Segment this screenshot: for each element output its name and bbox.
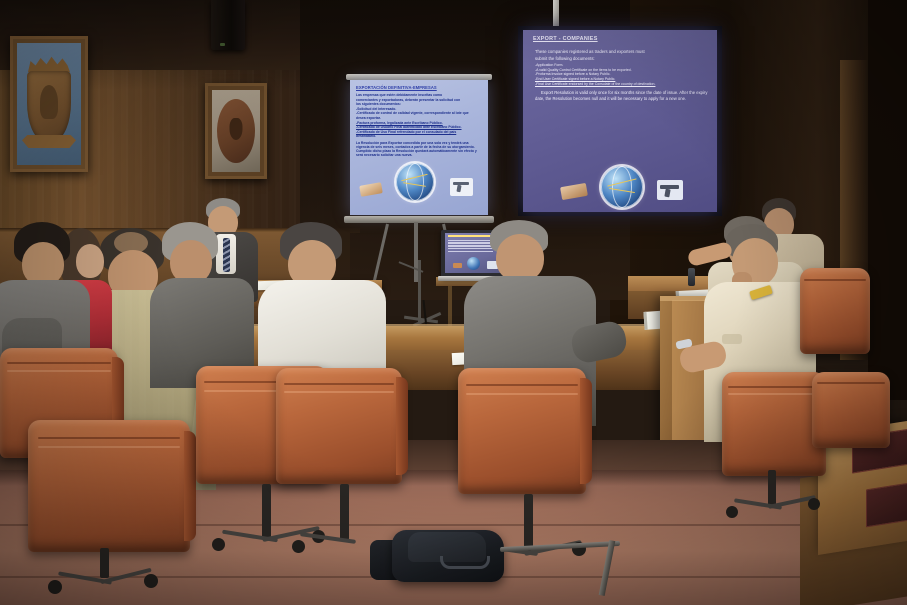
crest-figure-icon [40,85,58,119]
chair-front-left[interactable] [28,420,190,552]
pistol-icon [657,180,683,200]
chair-right-corner[interactable] [812,372,890,448]
conference-room-photo: EXPORT - COMPANIES These companies regis… [0,0,907,605]
chair-post-grey [524,494,533,552]
chair-post-front-left [100,548,109,578]
left-slide-body-5: desea exportar. [356,116,482,120]
necktie-icon [223,238,230,272]
chair-castor-i [808,498,820,510]
pistol-icon-left [450,178,473,196]
left-slide-body-6: -Factura proforma, legalizada ante Escri… [356,121,482,125]
chair-post-officer [768,470,776,506]
desk-pad-2 [866,480,907,527]
crown-icon [28,55,70,72]
left-slide-title: EXPORTACIÓN DEFINITIVA-EMPRESAS [356,85,482,91]
chair-castor-e [292,540,305,553]
chair-castor-c [212,538,225,551]
left-slide-artwork [358,155,480,201]
left-slide-body-4: -Certificado de control de calidad vigen… [356,111,482,115]
right-slide-title: EXPORT - COMPANIES [533,35,711,43]
left-slide-body-2: los siguientes documentos: [356,102,482,106]
oval-relief-plaque [205,83,267,179]
right-slide-lead-0: These companies registered as traders an… [535,49,711,55]
laptop-table-leg-left [448,286,452,328]
chair-grey-suit-center[interactable] [458,368,586,494]
speaker-led-icon [220,43,225,46]
bottle-icon [688,268,695,286]
right-slide-artwork [557,154,687,210]
globe-icon [601,166,643,208]
left-slide-body-9: destinatario. [356,134,482,138]
chair-castor-b [144,574,158,588]
left-slide-body-1: comerciantes y exportadoras, deberán pre… [356,98,482,102]
chair-right-back[interactable] [800,268,870,354]
right-slide-bullet-4: -Final Use Certificate endorsed by the C… [535,82,711,87]
oval-relief-figure-icon [230,118,243,140]
chair-castor-a [48,580,62,594]
laptop-bag-handle [440,556,490,569]
chair-officer-foreground[interactable] [722,372,826,476]
right-projection-screen: EXPORT - COMPANIES These companies regis… [523,30,717,212]
screen-bottom-bar [344,216,494,223]
chair-center-white-shirt[interactable] [276,368,402,484]
right-slide-lead-1: submit the following documents: [535,56,711,62]
left-slide-body-0: Las empresas que estén debidamente inscr… [356,93,482,97]
ammunition-icon [560,183,588,200]
left-slide-body-8: -Certificado de Uso Final refrendado por… [356,130,482,134]
chair-castor-h [726,506,738,518]
ribbon-icon [22,135,76,148]
laptop-ammo-icon [453,263,462,268]
laptop-slide-title-bar [448,235,493,237]
left-projection-screen: EXPORTACIÓN DEFINITIVA-EMPRESAS Las empr… [350,80,488,215]
globe-icon-left [396,163,434,201]
ammunition-icon-left [359,182,383,197]
chair-post-khaki [262,484,271,538]
laptop-globe-icon [467,257,480,270]
right-wall-dark [868,0,907,400]
wall-speaker-icon [211,0,245,50]
chair-post-center [340,484,349,540]
right-slide-paragraph: Export Resolution is valid only once for… [535,90,711,101]
coat-of-arms-plaque [10,36,88,172]
officer-shirt-pocket [722,334,742,344]
left-slide-body-3: -Solicitud del interesado. [356,107,482,111]
left-slide-body-7: -Certificado de Usuario Final autenticad… [356,125,482,129]
